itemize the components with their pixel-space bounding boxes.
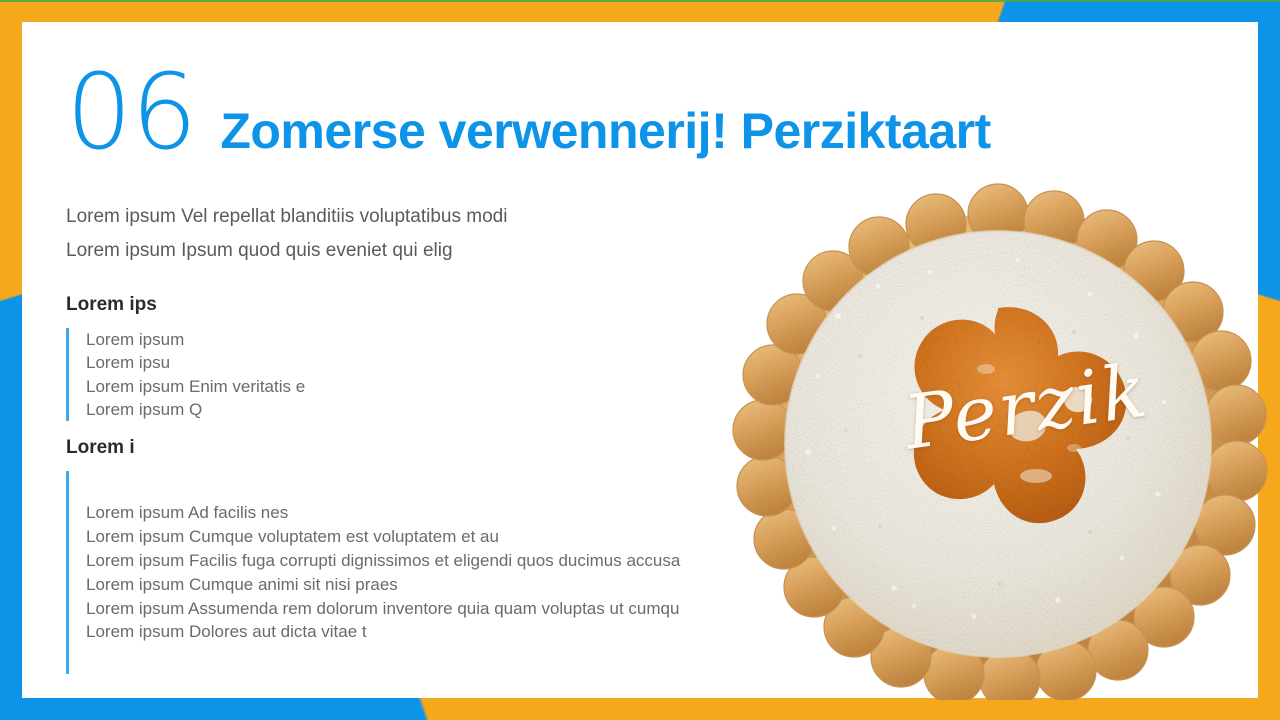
section-heading: Lorem i: [66, 437, 806, 459]
list-item: Lorem ipsum Cumque animi sit nisi praes: [86, 573, 806, 597]
list-item: Lorem ipsu: [86, 351, 806, 374]
list-item: Lorem ipsum Assumenda rem dolorum invent…: [86, 597, 806, 621]
section-one: Lorem ips Lorem ipsum Lorem ipsu Lorem i…: [66, 294, 806, 422]
list-item: Lorem ipsum Facilis fuga corrupti dignis…: [86, 549, 806, 573]
lede-paragraphs: Lorem ipsum Vel repellat blanditiis volu…: [66, 200, 806, 268]
accent-list-two: Lorem ipsum Ad facilis nes Lorem ipsum C…: [66, 471, 806, 674]
content-card: 06 Zomerse verwennerij! Perziktaart Lore…: [22, 22, 1258, 698]
list-item: Lorem ipsum Cumque voluptatem est volupt…: [86, 525, 806, 549]
slide: 06 Zomerse verwennerij! Perziktaart Lore…: [0, 0, 1280, 720]
page-title: Zomerse verwennerij! Perziktaart: [220, 106, 990, 156]
list-item: Lorem ipsum Ad facilis nes: [86, 501, 806, 525]
section-two: Lorem i Lorem ipsum Ad facilis nes Lorem…: [66, 437, 806, 674]
section-heading: Lorem ips: [66, 294, 806, 316]
lede-line: Lorem ipsum Vel repellat blanditiis volu…: [66, 200, 806, 234]
slide-number: 06: [66, 60, 196, 164]
list-item: Lorem ipsum Dolores aut dicta vitae t: [86, 620, 806, 644]
frame-hairline: [0, 0, 1280, 2]
list-item: Lorem ipsum Enim veritatis e: [86, 375, 806, 398]
body-column: Lorem ipsum Vel repellat blanditiis volu…: [66, 200, 806, 674]
list-item: Lorem ipsum Q: [86, 398, 806, 421]
lede-line: Lorem ipsum Ipsum quod quis eveniet qui …: [66, 234, 806, 268]
slide-header: 06 Zomerse verwennerij! Perziktaart: [66, 60, 991, 164]
list-item: Lorem ipsum: [86, 328, 806, 351]
accent-list-one: Lorem ipsum Lorem ipsu Lorem ipsum Enim …: [66, 328, 806, 422]
